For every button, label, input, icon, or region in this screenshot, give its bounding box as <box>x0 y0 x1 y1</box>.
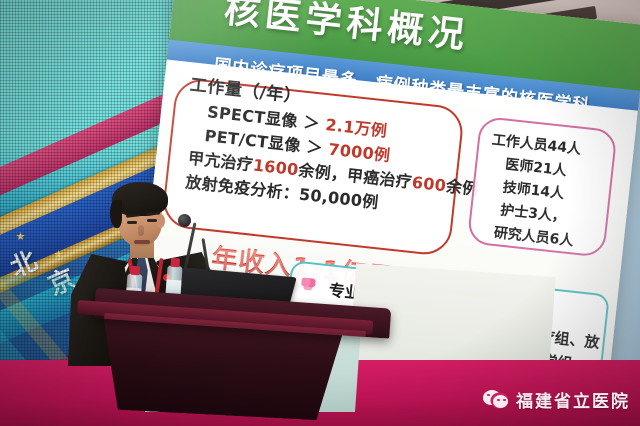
star-ornament-icon <box>16 232 25 241</box>
staff-item-doctors: 医师21人 <box>504 154 567 181</box>
ear <box>156 214 165 228</box>
wechat-eye-dot <box>487 394 490 397</box>
eye <box>127 221 137 224</box>
eye <box>147 219 157 222</box>
channel-watermark: 福建省立医院 <box>483 387 630 412</box>
workload-value-2: 600 <box>411 173 447 196</box>
staff-item-nurses: 护士3人， <box>499 199 567 226</box>
mouth <box>134 240 150 244</box>
wechat-eye-dot <box>494 394 497 397</box>
staff-total: 工作人员44人 <box>491 129 582 159</box>
microphone-head-icon <box>178 214 191 227</box>
flower-bullet-icon <box>301 277 316 290</box>
staff-card: 工作人员44人 医师21人 技师14人 护士3人， 研究人员6人 <box>467 116 618 258</box>
wechat-eye-dot <box>497 399 500 402</box>
wechat-icon <box>483 390 509 410</box>
staff-item-technicians: 技师14人 <box>502 177 565 204</box>
wechat-eye-dot <box>503 399 506 402</box>
presentation-photo-scene: 9:28 北 京 协 北京协和医院 医疗技术学术 核医学科概况 国内诊疗项目最多… <box>0 0 640 426</box>
hair-side <box>110 200 122 228</box>
led-character: 北 <box>4 240 43 284</box>
watermark-text: 福建省立医院 <box>516 387 630 412</box>
nose <box>138 225 144 236</box>
